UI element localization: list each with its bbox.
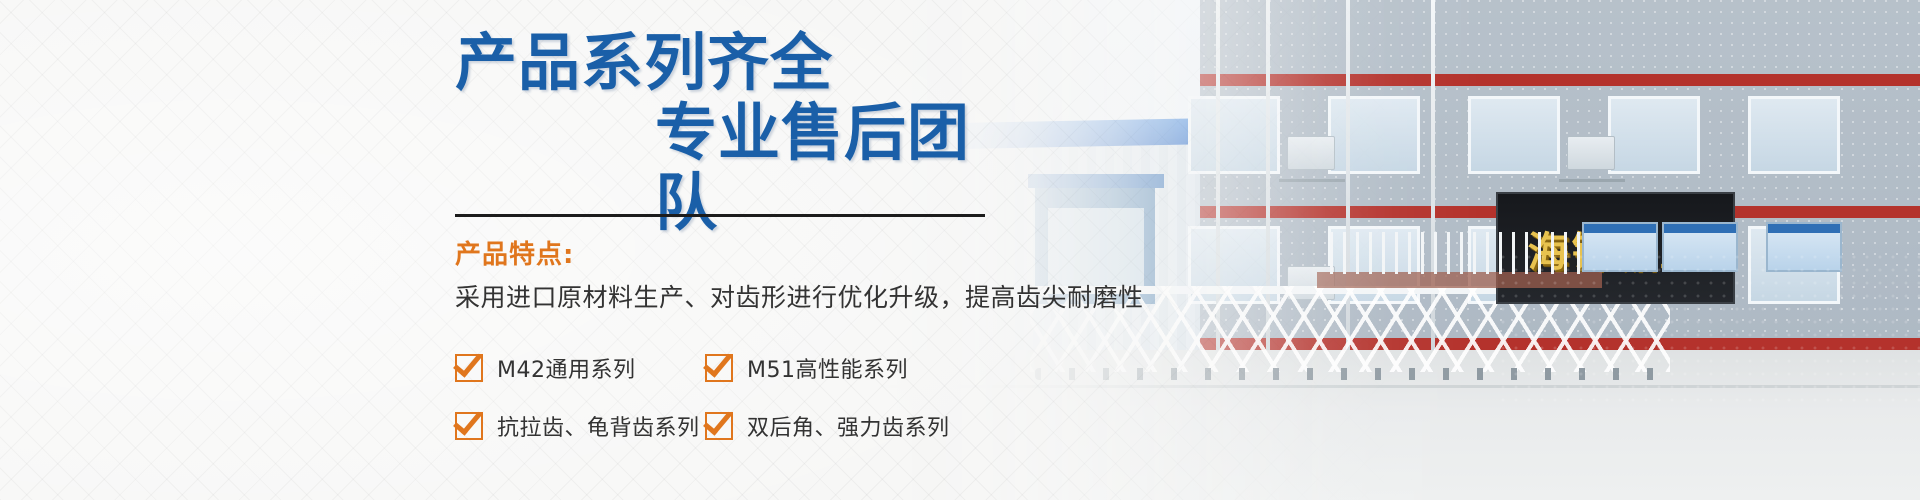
banner-content: 产品系列齐全 专业售后团队 产品特点: 采用进口原材料生产、对齿形进行优化升级，… bbox=[0, 0, 1000, 500]
check-box-icon bbox=[455, 354, 483, 382]
promo-banner: 海锋锯业 产品系列齐全 专业售后团队 产品特点: 采用进口原材料生产、对齿形进行… bbox=[0, 0, 1920, 500]
checklist-item-label: M51高性能系列 bbox=[747, 352, 908, 384]
headline: 产品系列齐全 专业售后团队 bbox=[455, 28, 975, 238]
headline-divider bbox=[455, 214, 985, 217]
checklist-item-label: M42通用系列 bbox=[497, 352, 635, 384]
feature-title: 产品特点: bbox=[455, 234, 574, 271]
check-box-icon bbox=[705, 412, 733, 440]
checklist-item[interactable]: M42通用系列 bbox=[455, 352, 705, 384]
headline-line-1: 产品系列齐全 bbox=[455, 26, 833, 99]
check-box-icon bbox=[705, 354, 733, 382]
checklist-item-label: 双后角、强力齿系列 bbox=[747, 410, 950, 442]
checklist-item[interactable]: M51高性能系列 bbox=[705, 352, 955, 384]
checklist-row: M42通用系列 M51高性能系列 bbox=[455, 352, 975, 384]
check-box-icon bbox=[455, 412, 483, 440]
checklist-item[interactable]: 抗拉齿、龟背齿系列 bbox=[455, 410, 705, 442]
checklist-item[interactable]: 双后角、强力齿系列 bbox=[705, 410, 955, 442]
checklist-row: 抗拉齿、龟背齿系列 双后角、强力齿系列 bbox=[455, 410, 975, 442]
headline-line-2: 专业售后团队 bbox=[455, 98, 975, 238]
feature-checklist: M42通用系列 M51高性能系列 抗拉齿、龟背齿系列 双后角、强力齿系列 bbox=[455, 352, 975, 468]
feature-description: 采用进口原材料生产、对齿形进行优化升级，提高齿尖耐磨性 bbox=[455, 278, 1144, 314]
checklist-item-label: 抗拉齿、龟背齿系列 bbox=[497, 410, 700, 442]
